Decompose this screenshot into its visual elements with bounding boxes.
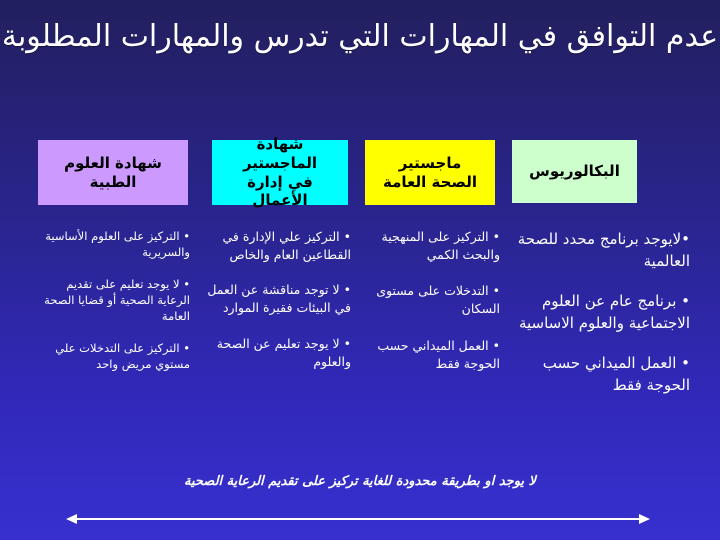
column-mph: • التركيز على المنهجية والبحث الكمي • ال… bbox=[360, 228, 500, 391]
list-item: • التركيز على العلوم الأساسية والسريرية bbox=[30, 228, 190, 261]
header-box-mba: شهادة الماجستيرفي إدارة الأعمال bbox=[212, 140, 348, 205]
header-box-label: شهادة الماجستيرفي إدارة الأعمال bbox=[218, 135, 342, 210]
slide-canvas: عدم التوافق في المهارات التي تدرس والمها… bbox=[0, 0, 720, 540]
double-headed-arrow-icon bbox=[66, 511, 650, 527]
list-item: • برنامج عام عن العلوم الاجتماعية والعلو… bbox=[510, 290, 690, 334]
list-item: • العمل الميداني حسب الحوجة فقط bbox=[510, 352, 690, 396]
header-box-medical-sciences: شهادة العلوم الطبية bbox=[38, 140, 188, 205]
page-title: عدم التوافق في المهارات التي تدرس والمها… bbox=[0, 16, 720, 59]
header-box-label: شهادة العلوم الطبية bbox=[44, 154, 182, 192]
bullet-list: • التركيز علي الإدارة في القطاعين العام … bbox=[196, 228, 351, 371]
list-item: • لا يوجد تعليم عن الصحة والعلوم bbox=[196, 335, 351, 371]
footnote-text: لا يوجد او بطريقة محدودة للغاية تركيز عل… bbox=[0, 474, 720, 491]
column-mba: • التركيز علي الإدارة في القطاعين العام … bbox=[196, 228, 351, 388]
bullet-list: • التركيز على العلوم الأساسية والسريرية … bbox=[30, 228, 190, 372]
list-item: • العمل الميداني حسب الحوجة فقط bbox=[360, 337, 500, 373]
list-item: •لايوجد برنامج محدد للصحة العالمية bbox=[510, 228, 690, 272]
list-item: • لا توجد مناقشة عن العمل في البيئات فقي… bbox=[196, 281, 351, 317]
list-item: • التركيز على التدخلات علي مستوي مريض وا… bbox=[30, 340, 190, 373]
header-box-label: البكالوريوس bbox=[529, 162, 620, 181]
column-bachelor: •لايوجد برنامج محدد للصحة العالمية • برن… bbox=[510, 228, 690, 414]
header-box-bachelor: البكالوريوس bbox=[512, 140, 637, 203]
list-item: • التدخلات على مستوى السكان bbox=[360, 282, 500, 318]
header-box-mph: ماجستيرالصحة العامة bbox=[365, 140, 495, 205]
list-item: • التركيز علي الإدارة في القطاعين العام … bbox=[196, 228, 351, 264]
bullet-list: • التركيز على المنهجية والبحث الكمي • ال… bbox=[360, 228, 500, 373]
bullet-list: •لايوجد برنامج محدد للصحة العالمية • برن… bbox=[510, 228, 690, 396]
column-medical-sciences: • التركيز على العلوم الأساسية والسريرية … bbox=[30, 228, 190, 387]
header-box-label: ماجستيرالصحة العامة bbox=[383, 154, 477, 192]
list-item: • لا يوجد تعليم على تقديم الرعاية الصحية… bbox=[30, 276, 190, 325]
list-item: • التركيز على المنهجية والبحث الكمي bbox=[360, 228, 500, 264]
